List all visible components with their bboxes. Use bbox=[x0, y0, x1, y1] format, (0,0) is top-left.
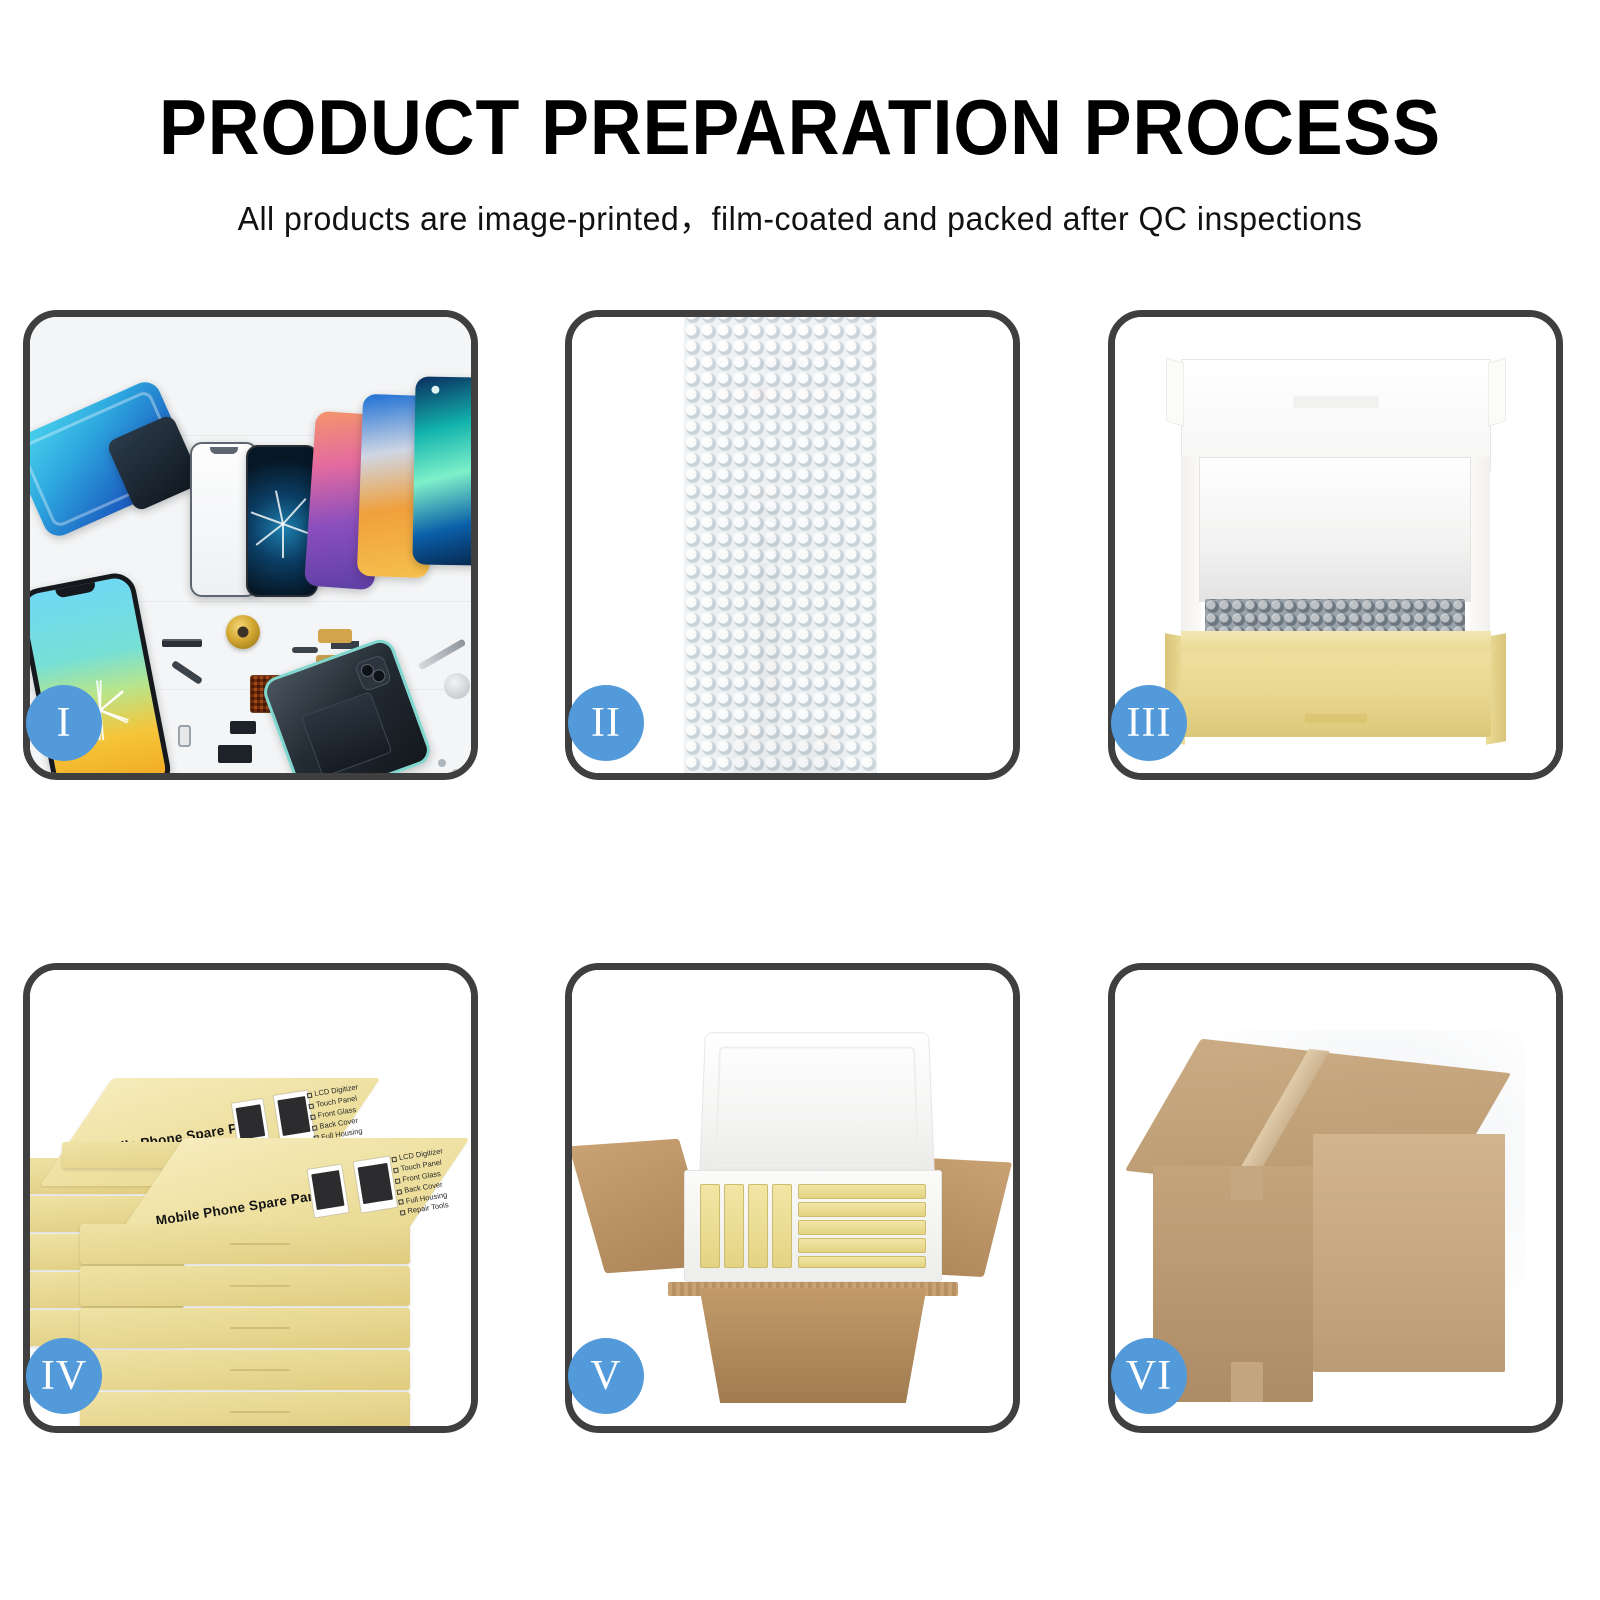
retail-box-layer bbox=[80, 1224, 410, 1264]
carton-right-face bbox=[1313, 1134, 1505, 1372]
step-numeral-4: IV bbox=[41, 1355, 87, 1397]
back-housing-battery-part bbox=[260, 635, 435, 773]
carton-front-wall bbox=[684, 1288, 942, 1403]
packed-retail-boxes bbox=[698, 1182, 930, 1268]
repair-tool-part bbox=[418, 638, 467, 670]
step-badge-3: III bbox=[1111, 685, 1187, 761]
retail-box-layer bbox=[80, 1392, 410, 1426]
step-numeral-5: V bbox=[590, 1355, 621, 1397]
retail-box-checklist-2: LCD Digitizer Touch Panel Front Glass Ba… bbox=[391, 1146, 452, 1219]
step-numeral-1: I bbox=[57, 702, 72, 744]
vibration-motor-part bbox=[230, 721, 256, 734]
screw-part-b bbox=[452, 769, 460, 773]
step-numeral-3: III bbox=[1127, 702, 1172, 744]
retail-box-layer bbox=[80, 1308, 410, 1348]
antenna-flex-part bbox=[171, 660, 203, 685]
retail-box-phone-image-a2 bbox=[306, 1163, 349, 1218]
box-lid-open bbox=[1181, 359, 1491, 471]
step-badge-4: IV bbox=[26, 1338, 102, 1414]
phone-display-teal bbox=[412, 376, 471, 565]
process-steps-grid: I bbox=[0, 0, 1600, 1600]
retail-box-brand-2: Mobile Phone Spare Parts bbox=[155, 1187, 327, 1229]
step-badge-2: II bbox=[568, 685, 644, 761]
sim-tray-part bbox=[178, 725, 191, 747]
retail-box-layer bbox=[80, 1266, 410, 1306]
step-numeral-2: II bbox=[591, 702, 621, 744]
bubble-wrap-texture bbox=[684, 317, 877, 773]
box-wall-left bbox=[1181, 457, 1201, 632]
kraft-box-front bbox=[1181, 649, 1491, 737]
flex-cable-part-a bbox=[318, 629, 352, 643]
power-button-flex-part bbox=[292, 647, 318, 653]
step-numeral-6: VI bbox=[1126, 1355, 1172, 1397]
foam-sheet bbox=[1199, 457, 1471, 602]
display-connector-part bbox=[162, 639, 202, 647]
screw-part-a bbox=[438, 759, 446, 767]
retail-box-layer bbox=[80, 1350, 410, 1390]
camera-module-part bbox=[218, 745, 252, 763]
step-badge-5: V bbox=[568, 1338, 644, 1414]
styrofoam-lid bbox=[699, 1032, 935, 1181]
cleaning-brush-part bbox=[444, 673, 470, 699]
wireless-charging-coil-part bbox=[226, 615, 260, 649]
step-badge-6: VI bbox=[1111, 1338, 1187, 1414]
bubble-wrap-bag bbox=[684, 317, 877, 773]
step-badge-1: I bbox=[26, 685, 102, 761]
box-wall-right bbox=[1470, 457, 1490, 632]
infographic-page: PRODUCT PREPARATION PROCESS All products… bbox=[0, 0, 1600, 1600]
